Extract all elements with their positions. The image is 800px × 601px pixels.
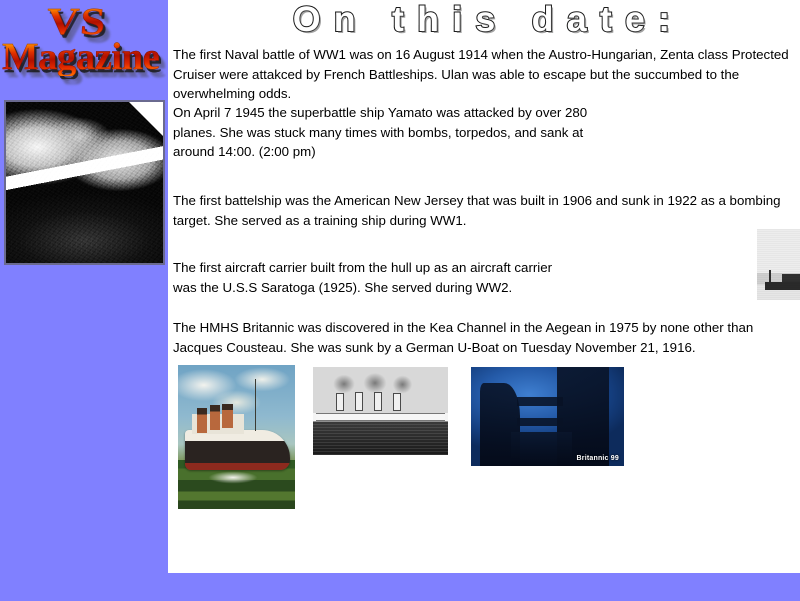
battleship-photo-2 — [757, 229, 800, 300]
hull-white-band — [316, 413, 446, 421]
liner-bw-photo — [313, 367, 448, 455]
funnel-3 — [222, 404, 233, 428]
paragraph-britannic: The HMHS Britannic was discovered in the… — [173, 318, 798, 357]
funnel-2 — [355, 392, 363, 411]
liner-painting — [178, 365, 295, 509]
funnel-1 — [336, 393, 344, 411]
wreck-beam-upper — [517, 397, 563, 406]
foremast — [255, 379, 256, 431]
bow-wave — [199, 469, 267, 486]
liner-hull — [185, 430, 290, 470]
shipwreck-photo — [6, 102, 163, 263]
page-title: On this date: — [176, 0, 800, 40]
funnel-3 — [374, 392, 382, 411]
funnel-2 — [210, 405, 221, 429]
wreck-underwater-photo: Britannic 99 — [471, 367, 624, 466]
wreck-lower-deck — [511, 432, 572, 466]
funnel-4 — [393, 393, 401, 411]
paragraph-naval-battle-ww1: The first Naval battle of WW1 was on 16 … — [173, 45, 798, 104]
paragraph-new-jersey: The first battelship was the American Ne… — [173, 191, 795, 230]
vs-magazine-logo: VS Magazine — [0, 2, 168, 94]
paragraph-saratoga: The first aircraft carrier built from th… — [173, 258, 578, 297]
liner-bw-image — [313, 367, 448, 455]
photo-corner-fold — [129, 102, 163, 136]
sea — [313, 422, 448, 455]
paragraph-yamato: On April 7 1945 the superbattle ship Yam… — [173, 103, 623, 162]
photo-haze — [757, 229, 800, 300]
content-panel: On this date: The first Naval battle of … — [168, 0, 800, 573]
funnel-1 — [197, 408, 208, 432]
wreck-beam-lower — [517, 418, 563, 426]
logo-line-magazine: Magazine — [2, 38, 159, 76]
sidebar: VS Magazine — [0, 0, 168, 601]
battleship-2-image — [757, 229, 800, 300]
page-title-text: On this date: — [170, 0, 800, 40]
shipwreck-photo-frame — [4, 100, 165, 265]
wreck-caption: Britannic 99 — [577, 455, 619, 462]
